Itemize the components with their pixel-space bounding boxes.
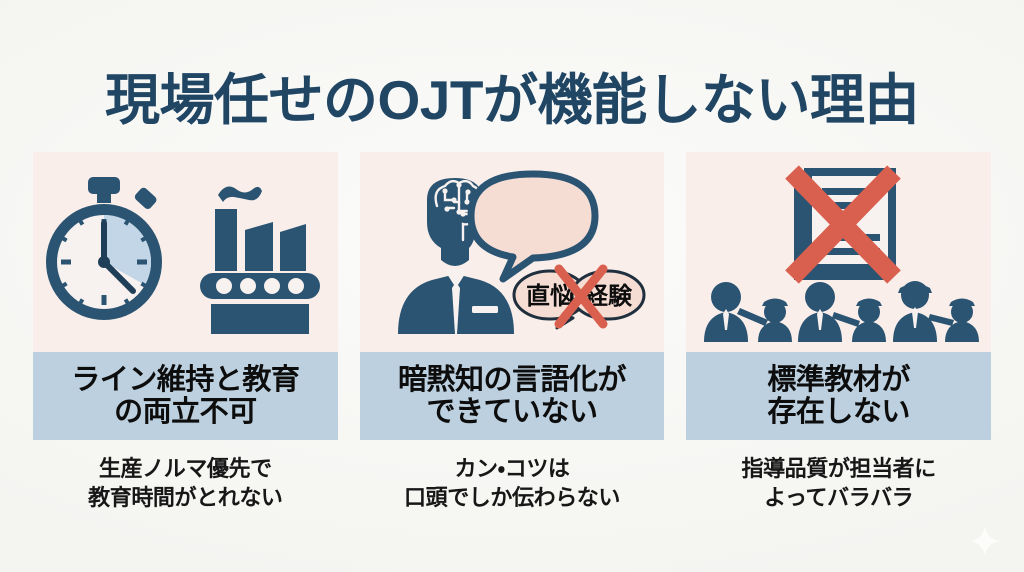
person-with-brain-speech-bubble-icon: 直悩 経験 (367, 162, 657, 342)
card-caption-2: カン・コツは 口頭でしか伝わらない (360, 454, 665, 513)
icon-panel-2: 直悩 経験 (360, 152, 665, 352)
card-label-3: 標準教材が 存在しない (761, 364, 916, 429)
slide-root: 現場任せのOJTが機能しない理由 (0, 0, 1024, 572)
reason-card-2: 直悩 経験 暗黙知の言語化が できていない カン・コツは 口頭でしか伝わらない (360, 152, 665, 513)
sparkle-diamond-icon (968, 524, 1002, 558)
label-band-2: 暗黙知の言語化が できていない (360, 352, 665, 440)
reason-card-list: ライン維持と教育 の両立不可 生産ノルマ優先で 教育時間がとれない (33, 152, 991, 513)
card-label-1: ライン維持と教育 の両立不可 (65, 364, 305, 429)
label-band-1: ライン維持と教育 の両立不可 (33, 352, 338, 440)
stopwatch-and-factory-conveyor-icon (40, 167, 330, 337)
icon-panel-3 (686, 152, 991, 352)
crossed-out-manual-with-instructors-icon (694, 162, 984, 342)
page-title-container: 現場任せのOJTが機能しない理由 (0, 36, 1024, 165)
page-title: 現場任せのOJTが機能しない理由 (105, 73, 919, 128)
card-caption-1: 生産ノルマ優先で 教育時間がとれない (33, 454, 338, 513)
reason-card-3: 標準教材が 存在しない 指導品質が担当者に よってバラバラ (686, 152, 991, 513)
icon-panel-1 (33, 152, 338, 352)
label-band-3: 標準教材が 存在しない (686, 352, 991, 440)
badge-left-text: 直悩 (526, 282, 574, 310)
card-caption-3: 指導品質が担当者に よってバラバラ (686, 454, 991, 513)
card-label-2: 暗黙知の言語化が できていない (392, 364, 632, 429)
reason-card-1: ライン維持と教育 の両立不可 生産ノルマ優先で 教育時間がとれない (33, 152, 338, 513)
